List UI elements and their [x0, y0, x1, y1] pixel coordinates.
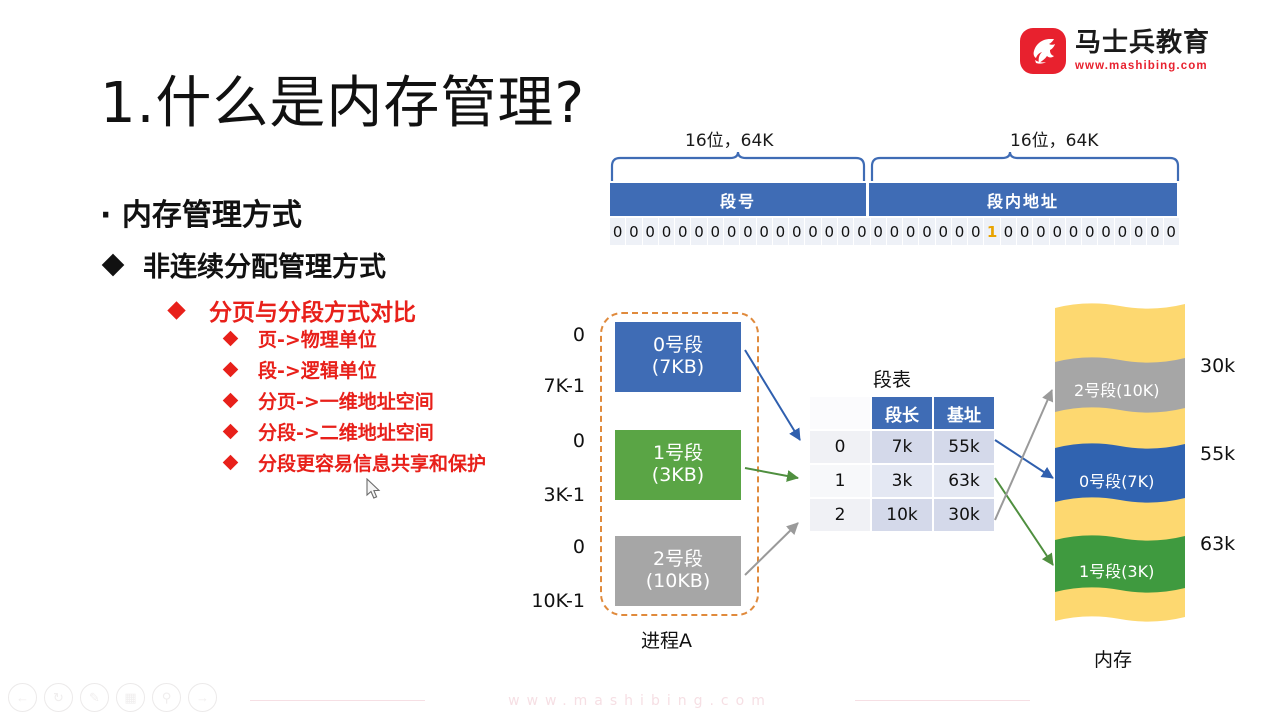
- horse-head-icon: [1020, 28, 1066, 74]
- table-row: 2 10k 30k: [810, 499, 994, 531]
- address-bit: 0: [757, 218, 773, 245]
- cell-length: 3k: [872, 465, 932, 497]
- outline-level2-label: 非连续分配管理方式: [143, 245, 386, 284]
- address-bit: 0: [936, 218, 952, 245]
- segment-1-end-label: 3K-1: [515, 484, 585, 506]
- segment-name: 0号段: [653, 335, 703, 357]
- address-bit: 0: [887, 218, 903, 245]
- segment-0-start-label: 0: [525, 324, 585, 346]
- list-item-label: 页->物理单位: [258, 325, 377, 352]
- diamond-bullet-icon: [223, 331, 239, 347]
- watermark-text: www.mashibing.com: [0, 693, 1280, 709]
- address-bit: 0: [854, 218, 870, 245]
- slide-canvas: 马士兵教育 www.mashibing.com 1.什么是内存管理? · 内存管…: [0, 0, 1280, 720]
- mouse-cursor: [366, 478, 382, 500]
- address-bit: 0: [822, 218, 838, 245]
- address-bit: 0: [919, 218, 935, 245]
- field-offset: 段内地址: [869, 183, 1177, 216]
- process-caption: 进程A: [641, 626, 692, 653]
- column-header-base: 基址: [934, 397, 994, 429]
- list-item: 分页->一维地址空间: [225, 386, 486, 415]
- address-bit: 0: [1115, 218, 1131, 245]
- address-bit: 0: [789, 218, 805, 245]
- segment-name: 1号段: [653, 443, 703, 465]
- outline-level2: 非连续分配管理方式: [105, 245, 386, 284]
- table-header-row: 段长 基址: [810, 397, 994, 429]
- brand-name: 马士兵教育: [1075, 30, 1210, 56]
- field-segment-number: 段号: [610, 183, 866, 216]
- cell-base: 63k: [934, 465, 994, 497]
- diamond-bullet-icon: [223, 455, 239, 471]
- address-bit: 0: [724, 218, 740, 245]
- address-bit: 0: [838, 218, 854, 245]
- list-item: 分段->二维地址空间: [225, 417, 486, 446]
- memory-block-label-1: 1号段(3K): [1079, 558, 1154, 582]
- cell-index: 0: [810, 431, 870, 463]
- address-bit: 0: [903, 218, 919, 245]
- address-bit: 0: [675, 218, 691, 245]
- segment-size: (7KB): [652, 357, 704, 379]
- cell-base: 55k: [934, 431, 994, 463]
- address-bit: 0: [1066, 218, 1082, 245]
- memory-caption: 内存: [1094, 645, 1132, 672]
- address-bit: 0: [610, 218, 626, 245]
- brace-group: [610, 150, 1180, 183]
- segment-1-start-label: 0: [525, 430, 585, 452]
- memory-mark-63k: 63k: [1200, 533, 1235, 555]
- table-row: 1 3k 63k: [810, 465, 994, 497]
- segment-size: (3KB): [652, 465, 704, 487]
- address-bit-row: 00000000000000000000000100000000000: [610, 218, 1180, 245]
- diamond-bullet-icon: [167, 301, 185, 319]
- outline-level4-list: 页->物理单位 段->逻辑单位 分页->一维地址空间 分段->二维地址空间 分段…: [225, 324, 486, 477]
- cell-index: 2: [810, 499, 870, 531]
- table-row: 0 7k 55k: [810, 431, 994, 463]
- address-bit: 0: [773, 218, 789, 245]
- brand-url: www.mashibing.com: [1075, 61, 1210, 73]
- column-header-index: [810, 397, 870, 429]
- process-segment-0: 0号段 (7KB): [615, 322, 741, 392]
- player-toolbar: ← ↻ ✎ ▦ ⚲ → www.mashibing.com: [0, 676, 1280, 720]
- address-field-bar: 段号 段内地址: [610, 183, 1180, 216]
- address-bit: 0: [871, 218, 887, 245]
- memory-mark-55k: 55k: [1200, 443, 1235, 465]
- diamond-bullet-icon: [223, 393, 239, 409]
- process-segment-2: 2号段 (10KB): [615, 536, 741, 606]
- list-item: 段->逻辑单位: [225, 355, 486, 384]
- segment-2-start-label: 0: [525, 536, 585, 558]
- address-bit: 0: [626, 218, 642, 245]
- address-bit: 0: [643, 218, 659, 245]
- segment-size: (10KB): [646, 571, 711, 593]
- outline-level3-label: 分页与分段方式对比: [209, 293, 416, 327]
- address-bit: 0: [1147, 218, 1163, 245]
- segment-table: 段长 基址 0 7k 55k 1 3k 63k 2 10k 30k: [808, 395, 996, 533]
- diamond-bullet-icon: [223, 362, 239, 378]
- address-bit: 0: [1098, 218, 1114, 245]
- address-format-diagram: 16位，64K 16位，64K 段号 段内地址 0000000000000000…: [610, 126, 1180, 245]
- list-item-label: 分段->二维地址空间: [258, 418, 434, 445]
- address-left-bits-label: 16位，64K: [685, 126, 773, 151]
- list-item-label: 分页->一维地址空间: [258, 387, 434, 414]
- address-bit: 0: [740, 218, 756, 245]
- memory-block-label-0: 0号段(7K): [1079, 468, 1154, 492]
- outline-level1: · 内存管理方式: [100, 190, 302, 234]
- cell-length: 7k: [872, 431, 932, 463]
- address-bit: 0: [1131, 218, 1147, 245]
- address-bit: 0: [952, 218, 968, 245]
- address-bit: 0: [968, 218, 984, 245]
- brand-logo: 马士兵教育 www.mashibing.com: [1020, 28, 1210, 74]
- page-title: 1.什么是内存管理?: [100, 58, 585, 139]
- address-right-bits-label: 16位，64K: [1010, 126, 1098, 151]
- address-bit: 0: [805, 218, 821, 245]
- address-bit: 0: [1017, 218, 1033, 245]
- cell-base: 30k: [934, 499, 994, 531]
- cell-length: 10k: [872, 499, 932, 531]
- address-bit: 0: [659, 218, 675, 245]
- diamond-bullet-icon: [223, 424, 239, 440]
- diamond-bullet-icon: [102, 253, 125, 276]
- list-item: 页->物理单位: [225, 324, 486, 353]
- segment-0-end-label: 7K-1: [515, 375, 585, 397]
- process-segment-1: 1号段 (3KB): [615, 430, 741, 500]
- address-bit: 0: [708, 218, 724, 245]
- list-item: 分段更容易信息共享和保护: [225, 448, 486, 477]
- list-item-label: 分段更容易信息共享和保护: [258, 449, 486, 476]
- memory-mark-30k: 30k: [1200, 355, 1235, 377]
- address-bit: 0: [1001, 218, 1017, 245]
- memory-block-label-2: 2号段(10K): [1074, 377, 1160, 401]
- cell-index: 1: [810, 465, 870, 497]
- segment-table-title: 段表: [873, 365, 911, 392]
- segment-name: 2号段: [653, 549, 703, 571]
- outline-level3: 分页与分段方式对比: [170, 293, 416, 327]
- segment-2-end-label: 10K-1: [505, 590, 585, 612]
- address-bit: 0: [691, 218, 707, 245]
- address-bit: 0: [1033, 218, 1049, 245]
- address-bit: 0: [1050, 218, 1066, 245]
- list-item-label: 段->逻辑单位: [258, 356, 377, 383]
- address-bit: 0: [1082, 218, 1098, 245]
- column-header-length: 段长: [872, 397, 932, 429]
- address-bit: 0: [1164, 218, 1180, 245]
- address-bit: 1: [984, 218, 1000, 245]
